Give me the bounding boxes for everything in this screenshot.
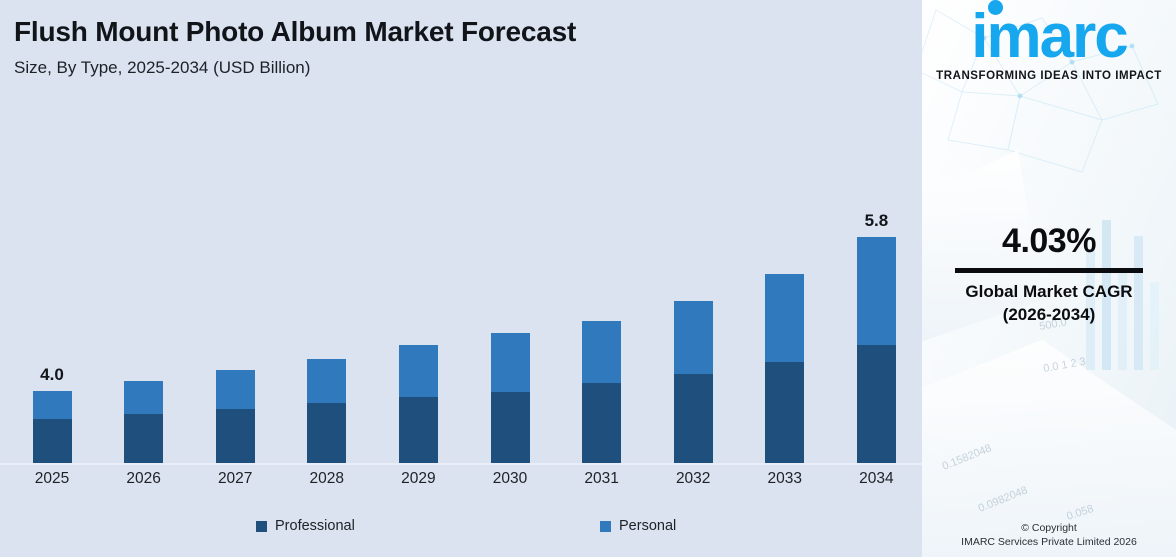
bar-segment-professional bbox=[399, 397, 438, 463]
cagr-label: Global Market CAGR bbox=[922, 282, 1176, 302]
x-axis-tick-label: 2027 bbox=[195, 470, 275, 488]
copyright-notice: © Copyright IMARC Services Private Limit… bbox=[922, 521, 1176, 549]
logo-tagline: TRANSFORMING IDEAS INTO IMPACT bbox=[922, 70, 1176, 82]
bar-segment-personal bbox=[491, 333, 530, 392]
cagr-value: 4.03% bbox=[922, 222, 1176, 261]
bar-group bbox=[491, 333, 530, 463]
bar-segment-professional bbox=[674, 374, 713, 463]
imarc-wordmark-text: imarc bbox=[971, 6, 1126, 68]
legend-swatch-icon bbox=[600, 521, 611, 532]
bar-group bbox=[399, 345, 438, 463]
x-axis-tick-label: 2034 bbox=[836, 470, 916, 488]
legend-item[interactable]: Personal bbox=[600, 518, 676, 534]
x-axis-tick-label: 2030 bbox=[470, 470, 550, 488]
legend-item[interactable]: Professional bbox=[256, 518, 355, 534]
legend-swatch-icon bbox=[256, 521, 267, 532]
bar-segment-personal bbox=[216, 370, 255, 409]
legend-label: Professional bbox=[275, 518, 355, 534]
bar-group bbox=[124, 381, 163, 463]
bar-segment-personal bbox=[857, 237, 896, 345]
imarc-logo: imarc TRANSFORMING IDEAS INTO IMPACT bbox=[922, 6, 1176, 82]
bar-group bbox=[582, 321, 621, 463]
copyright-line-1: © Copyright bbox=[922, 521, 1176, 535]
bar-group bbox=[765, 274, 804, 463]
x-axis-tick-label: 2028 bbox=[287, 470, 367, 488]
x-axis-tick-label: 2029 bbox=[378, 470, 458, 488]
bar-segment-personal bbox=[765, 274, 804, 362]
bar-segment-personal bbox=[582, 321, 621, 383]
bar-group bbox=[216, 370, 255, 463]
x-axis-tick-label: 2026 bbox=[104, 470, 184, 488]
cagr-block: 4.03% Global Market CAGR (2026-2034) bbox=[922, 222, 1176, 325]
bar-segment-personal bbox=[399, 345, 438, 397]
bar-segment-professional bbox=[765, 362, 804, 463]
bar-segment-personal bbox=[674, 301, 713, 374]
cagr-divider bbox=[955, 268, 1143, 273]
bar-segment-professional bbox=[582, 383, 621, 463]
brand-panel: 0.1582048 0.0982048 500.0 0.0 1 2 3 0.05… bbox=[922, 0, 1176, 557]
plot-area: 4.05.8 bbox=[0, 95, 922, 465]
x-axis-tick-label: 2031 bbox=[562, 470, 642, 488]
bar-group bbox=[307, 359, 346, 463]
x-axis-line bbox=[0, 463, 922, 465]
bar-segment-professional bbox=[857, 345, 896, 463]
bar-segment-professional bbox=[124, 414, 163, 463]
bar-value-label: 4.0 bbox=[33, 365, 72, 385]
legend-label: Personal bbox=[619, 518, 676, 534]
bar-segment-personal bbox=[33, 391, 72, 419]
bar-segment-professional bbox=[216, 409, 255, 463]
bar-segment-professional bbox=[33, 419, 72, 463]
bar-segment-professional bbox=[491, 392, 530, 463]
bar-segment-personal bbox=[307, 359, 346, 403]
x-axis-tick-label: 2032 bbox=[653, 470, 733, 488]
x-axis-tick-label: 2025 bbox=[12, 470, 92, 488]
bar-segment-personal bbox=[124, 381, 163, 414]
bar-group bbox=[674, 301, 713, 463]
page-subtitle: Size, By Type, 2025-2034 (USD Billion) bbox=[14, 58, 310, 78]
bar-group: 4.0 bbox=[33, 391, 72, 463]
bar-segment-professional bbox=[307, 403, 346, 463]
x-axis-labels: 2025202620272028202920302031203220332034 bbox=[0, 470, 922, 496]
bar-value-label: 5.8 bbox=[857, 211, 896, 231]
x-axis-tick-label: 2033 bbox=[745, 470, 825, 488]
page-title: Flush Mount Photo Album Market Forecast bbox=[14, 16, 576, 48]
chart-legend: ProfessionalPersonal bbox=[0, 518, 922, 546]
bar-group: 5.8 bbox=[857, 237, 896, 463]
copyright-line-2: IMARC Services Private Limited 2026 bbox=[922, 535, 1176, 549]
chart-panel: Flush Mount Photo Album Market Forecast … bbox=[0, 0, 922, 557]
chart-infographic: Flush Mount Photo Album Market Forecast … bbox=[0, 0, 1176, 557]
cagr-period: (2026-2034) bbox=[922, 305, 1176, 325]
